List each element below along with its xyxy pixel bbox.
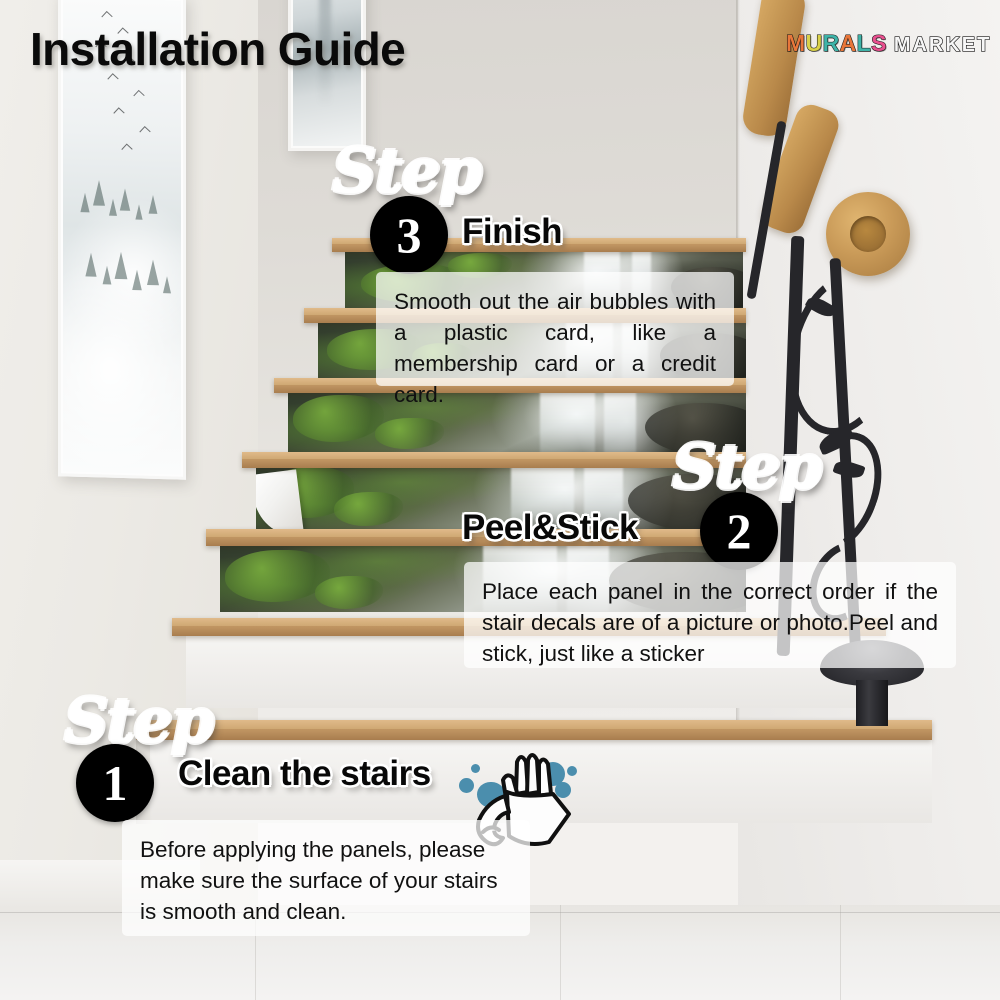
step-2-heading: Peel&Stick bbox=[462, 508, 638, 548]
logo-letter-a: A bbox=[840, 32, 857, 55]
step-2-number: 2 bbox=[727, 506, 752, 556]
step-1-badge: 1 bbox=[76, 744, 154, 822]
logo-letter-m: M bbox=[786, 32, 806, 55]
step-3-word: Step bbox=[332, 140, 480, 202]
step-1-word: Step bbox=[64, 690, 212, 752]
logo-market-wordmark: MARKET bbox=[894, 34, 992, 57]
step-3-number: 3 bbox=[397, 210, 422, 260]
decal-peel-corner bbox=[256, 469, 304, 530]
step-2-badge: 2 bbox=[700, 492, 778, 570]
logo-murals-wordmark: MURALS bbox=[786, 32, 887, 55]
step-1-heading: Clean the stairs bbox=[178, 754, 431, 794]
logo-letter-l: L bbox=[857, 32, 871, 55]
step-1-number: 1 bbox=[103, 758, 128, 808]
logo-letter-s: S bbox=[871, 32, 887, 55]
logo-letter-r: R bbox=[823, 32, 840, 55]
page-title: Installation Guide bbox=[30, 22, 405, 76]
step-3-heading: Finish bbox=[462, 212, 562, 252]
stair-tread bbox=[242, 452, 746, 468]
step-1-text-panel: Before applying the panels, please make … bbox=[122, 820, 530, 936]
stair-tread-bottom bbox=[136, 720, 932, 740]
step-3-text-panel: Smooth out the air bubbles with a plasti… bbox=[376, 272, 734, 386]
logo-letter-u: U bbox=[806, 32, 823, 55]
installation-guide-infographic: Installation Guide MURALS MARKET Step 3 … bbox=[0, 0, 1000, 1000]
brand-logo[interactable]: MURALS MARKET bbox=[786, 32, 991, 57]
step-3-badge: 3 bbox=[370, 196, 448, 274]
step-2-word: Step bbox=[672, 436, 820, 498]
newel-post-foot bbox=[856, 680, 888, 726]
step-2-text-panel: Place each panel in the correct order if… bbox=[464, 562, 956, 668]
